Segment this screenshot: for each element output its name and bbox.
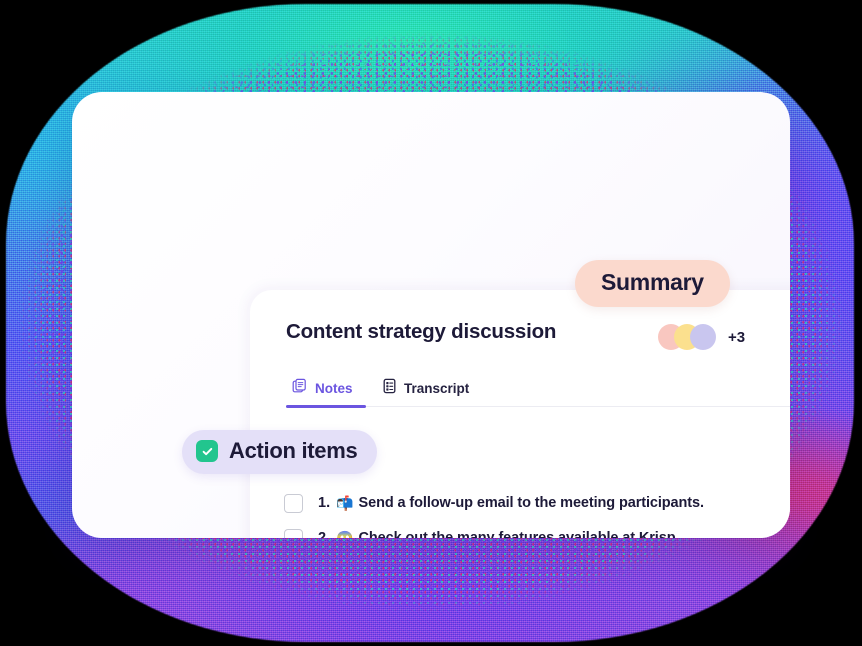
tab-transcript[interactable]: Transcript	[376, 372, 475, 405]
participants-group[interactable]: +3	[658, 324, 745, 350]
task-text: Check out the many features available at…	[359, 530, 676, 538]
notes-stack-icon	[292, 378, 308, 399]
tab-notes-label: Notes	[315, 381, 353, 396]
task-checkbox[interactable]	[284, 494, 303, 513]
action-items-list: 1. 📬 Send a follow-up email to the meeti…	[284, 486, 780, 538]
list-item[interactable]: 2. 😱 Check out the many features availab…	[284, 521, 780, 538]
participants-overflow-count: +3	[728, 329, 745, 346]
page-title: Content strategy discussion	[286, 320, 556, 344]
incoming-envelope-emoji: 📬	[336, 496, 353, 510]
panel-header: Content strategy discussion +3	[286, 314, 790, 366]
tab-transcript-label: Transcript	[404, 381, 469, 396]
summary-pill[interactable]: Summary	[575, 260, 730, 307]
task-text: Send a follow-up email to the meeting pa…	[359, 495, 704, 511]
tab-notes[interactable]: Notes	[286, 372, 359, 405]
summary-pill-label: Summary	[601, 269, 704, 295]
app-card: Summary Content strategy discussion +3	[72, 92, 790, 538]
avatar	[690, 324, 716, 350]
task-number: 2.	[318, 530, 330, 538]
transcript-document-icon	[382, 378, 397, 399]
action-items-badge[interactable]: Action items	[182, 430, 377, 474]
check-square-icon	[196, 440, 218, 462]
screaming-face-emoji: 😱	[336, 531, 353, 538]
avatar-stack	[658, 324, 722, 350]
tab-active-underline	[286, 405, 366, 408]
list-item[interactable]: 1. 📬 Send a follow-up email to the meeti…	[284, 486, 780, 520]
action-items-label: Action items	[229, 438, 357, 464]
screenshot-stage: Summary Content strategy discussion +3	[0, 0, 862, 646]
tab-bar: Notes Transcript	[286, 372, 790, 407]
task-number: 1.	[318, 495, 330, 511]
task-checkbox[interactable]	[284, 529, 303, 539]
